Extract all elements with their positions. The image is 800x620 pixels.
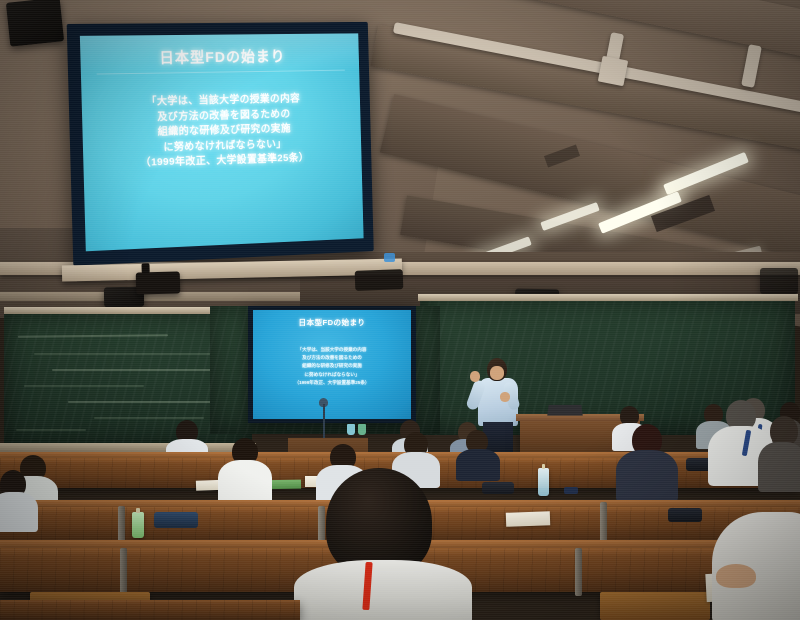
ceiling-speaker-icon	[6, 0, 64, 47]
chalk-tray	[0, 443, 256, 452]
slide-title: 日本型FDの始まり	[253, 317, 411, 328]
slide-body-line: 及び方法の改善を図るための	[257, 354, 407, 362]
secondary-projection-screen: 日本型FDの始まり 「大学は、当該大学の授業の内容 及び方法の改善を図るための …	[248, 306, 416, 423]
mobile-phone	[564, 487, 578, 494]
projector	[136, 271, 181, 294]
slide-body: 「大学は、当該大学の授業の内容 及び方法の改善を図るための 組織的な研修及び研究…	[257, 346, 407, 387]
presenter-hand	[500, 392, 510, 402]
slide-body-line: 組織的な研修及び研究の実施	[257, 362, 407, 370]
paper-sheet	[506, 511, 550, 527]
bag	[668, 508, 702, 522]
desk-leg	[600, 502, 607, 542]
cup	[358, 424, 366, 435]
slide-title: 日本型FDの始まり	[80, 45, 359, 69]
bag	[154, 512, 198, 528]
laptop	[547, 405, 583, 416]
slide-body: 「大学は、当該大学の授業の内容 及び方法の改善を図るための 組織的な研修及び研究…	[87, 90, 356, 172]
main-projection-screen: 日本型FDの始まり 「大学は、当該大学の授業の内容 及び方法の改善を図るための …	[67, 22, 374, 266]
water-bottle	[132, 512, 144, 538]
projector-mount	[355, 269, 404, 291]
ceiling-conduit-pipe	[741, 44, 762, 88]
slide-body-line: 「大学は、当該大学の授業の内容	[257, 346, 407, 354]
desk-leg	[575, 548, 582, 596]
blue-equipment-box	[384, 253, 395, 262]
chair	[600, 592, 710, 620]
secondary-slide-surface: 日本型FDの始まり 「大学は、当該大学の授業の内容 及び方法の改善を図るための …	[253, 310, 411, 419]
bag	[482, 482, 514, 494]
presenter-face	[490, 366, 504, 380]
main-slide-surface: 日本型FDの始まり 「大学は、当該大学の授業の内容 及び方法の改善を図るための …	[80, 33, 364, 251]
lecture-hall-photo: 日本型FDの始まり 「大学は、当該大学の授業の内容 及び方法の改善を図るための …	[0, 0, 800, 620]
desk-front-edge	[0, 600, 300, 620]
conduit-junction-box	[598, 56, 628, 86]
cup	[347, 424, 355, 435]
water-bottle	[538, 468, 549, 496]
presenter-hand	[470, 371, 480, 382]
microphone-stand	[323, 404, 325, 438]
slide-body-line: に努めなければならない」	[257, 371, 407, 379]
chalkboard-frame	[418, 294, 798, 301]
wall-speaker-icon	[760, 268, 798, 294]
desk-leg	[120, 548, 127, 596]
slide-body-line: （1999年改正、大学設置基準25条）	[257, 379, 407, 387]
